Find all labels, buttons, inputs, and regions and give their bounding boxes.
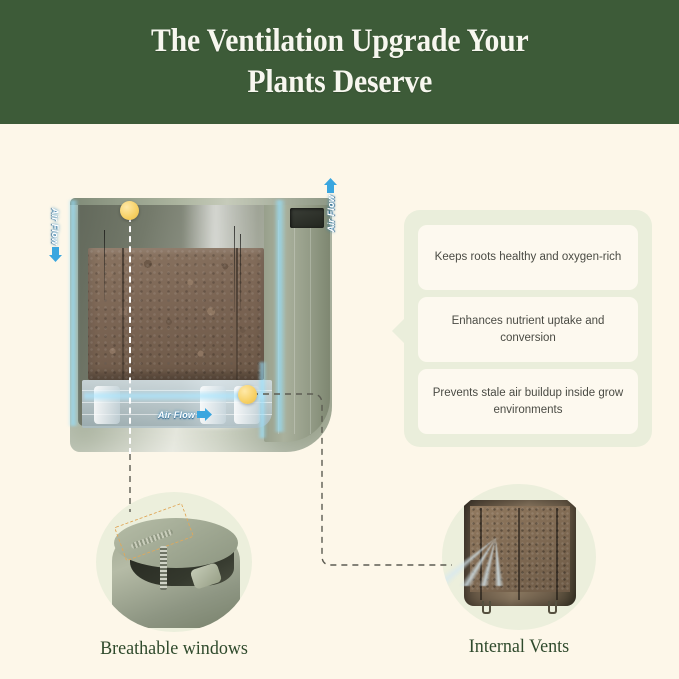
connector-lines bbox=[0, 0, 679, 679]
connector-line-top-marker bbox=[129, 216, 131, 454]
marker-dot-top[interactable] bbox=[120, 201, 139, 220]
marker-dot-bottom[interactable] bbox=[238, 385, 257, 404]
infographic-page: The Ventilation Upgrade Your Plants Dese… bbox=[0, 0, 679, 679]
